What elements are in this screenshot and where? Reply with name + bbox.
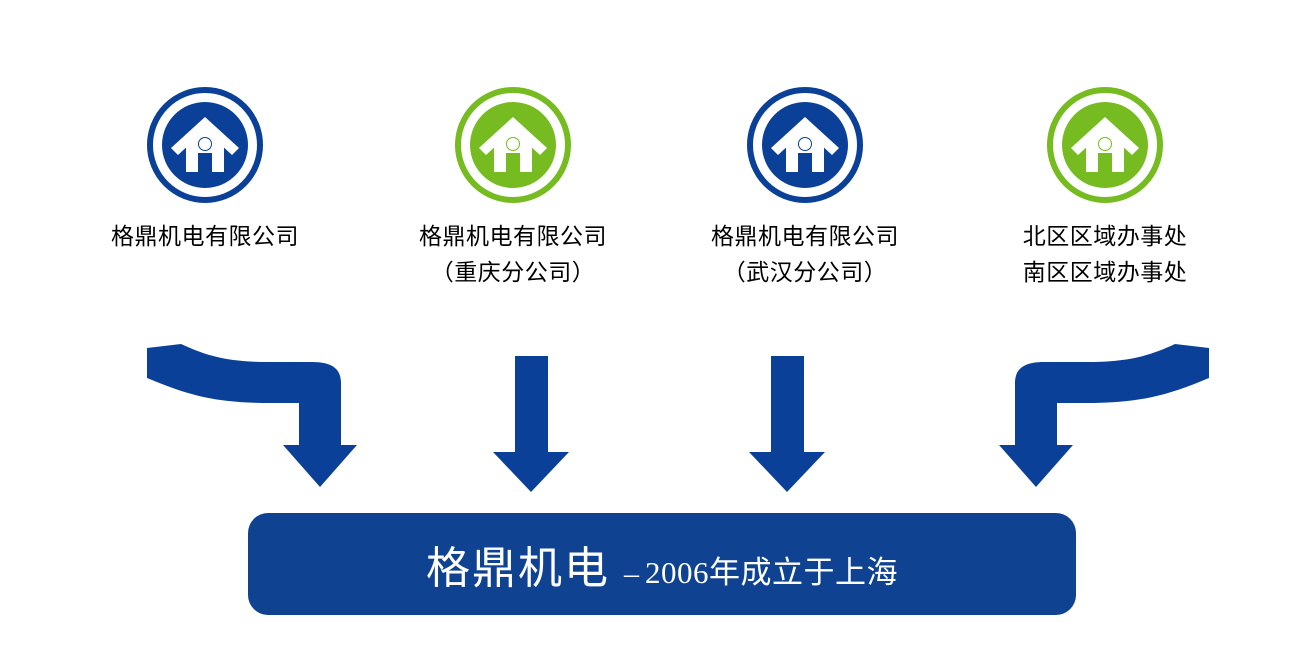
org-node-2-label: 格鼎机电有限公司 （重庆分公司） [383,218,643,290]
connector-arrow-1 [147,344,357,487]
org-node-2[interactable]: 格鼎机电有限公司 （重庆分公司） [383,86,643,290]
org-node-3-label: 格鼎机电有限公司 （武汉分公司） [675,218,935,290]
company-banner-text: 格鼎机电 – 2006年成立于上海 [426,532,898,596]
org-node-1[interactable]: 格鼎机电有限公司 [75,86,335,254]
org-node-4-label: 北区区域办事处 南区区域办事处 [975,218,1235,290]
company-banner-separator: – [610,557,645,591]
house-in-circle-icon [146,86,264,204]
diagram-canvas: 格鼎机电有限公司 格鼎机电有限公司 （重庆分公司） 格鼎机电有限公司 （武汉分公… [0,0,1296,651]
company-banner-main-text: 格鼎机电 [426,532,610,596]
org-node-3[interactable]: 格鼎机电有限公司 （武汉分公司） [675,86,935,290]
house-in-circle-icon [454,86,572,204]
org-node-4[interactable]: 北区区域办事处 南区区域办事处 [975,86,1235,290]
connector-arrow-4 [999,344,1209,487]
company-banner[interactable]: 格鼎机电 – 2006年成立于上海 [248,513,1076,615]
connector-arrow-3 [749,356,825,492]
company-banner-sub-text: 2006年成立于上海 [645,547,898,592]
org-node-1-label: 格鼎机电有限公司 [75,218,335,254]
house-in-circle-icon [1046,86,1164,204]
connector-arrow-2 [493,356,569,492]
house-in-circle-icon [746,86,864,204]
